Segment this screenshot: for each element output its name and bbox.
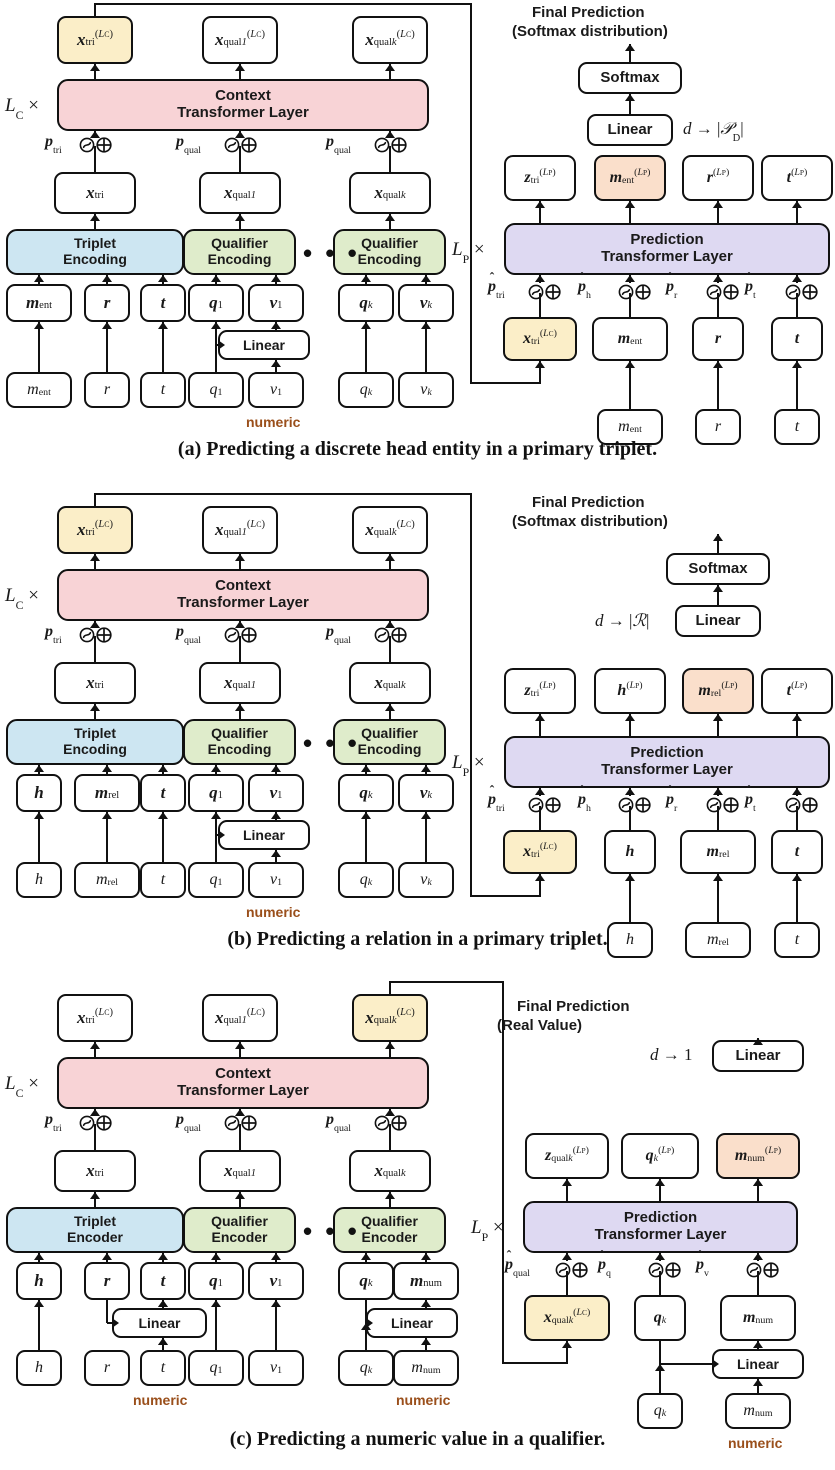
pred-out-arrow-0-head (562, 1179, 572, 1186)
context-token-1: xqual1 (199, 662, 281, 704)
context-token-2: xqualk (349, 172, 431, 214)
prediction-transformer-layer: PredictionTransformer Layer (504, 736, 830, 788)
ctx-lin-bot-0-head (158, 1338, 168, 1345)
prediction-output-0: zqualk(LP) (525, 1133, 609, 1179)
ctx-in-arrow-6-head (421, 812, 431, 819)
feedback-stem (539, 361, 541, 383)
feedback-top (389, 981, 504, 983)
ctx-in-arrow-3 (215, 1300, 217, 1350)
context-input-4: v1 (248, 372, 304, 408)
context-token-0: xtri (54, 172, 136, 214)
ctx-lin2-stem (365, 1300, 367, 1323)
pred-out-arrow-1-head (625, 201, 635, 208)
final-prediction-title-2: (Softmax distribution) (512, 23, 668, 40)
pred-tok-line-2 (717, 806, 719, 830)
ctx-out-arrow-1-head (235, 64, 245, 71)
context-input-1: r (84, 372, 130, 408)
context-output-0: xtri(LC) (57, 506, 133, 554)
context-add-symbol-2 (374, 626, 408, 644)
feedback-bottom (502, 1362, 568, 1364)
lin-sm-arrow-head (625, 94, 635, 101)
prediction-input-0: qk (637, 1393, 683, 1429)
prediction-add-symbol-1 (618, 283, 652, 301)
context-embedding-1: r (84, 1262, 130, 1300)
prediction-pos-label-0: p̂tri (488, 791, 505, 809)
prediction-transformer-layer: PredictionTransformer Layer (523, 1201, 798, 1253)
ctx-out-arrow-0-head (90, 1042, 100, 1049)
ctx-in-arrow-5 (365, 812, 367, 862)
ctx-in-arrow-6 (425, 812, 427, 862)
ctx-in-arrow-3-head (211, 1300, 221, 1307)
pred-lin-top-head (753, 1341, 763, 1348)
context-input-5: qk (338, 1350, 394, 1386)
ctx-enc-arrow-1-head (235, 704, 245, 711)
panel-b: xtri(LC)xqual1(LC)xqualk(LC)ContextTrans… (0, 490, 835, 960)
context-output-2: xqualk(LC) (352, 994, 428, 1042)
ctx-out-arrow-2-head (385, 1042, 395, 1049)
prediction-transformer-layer: PredictionTransformer Layer (504, 223, 830, 275)
prediction-token-0: xqualk(LC) (524, 1295, 610, 1341)
context-output-0: xtri(LC) (57, 994, 133, 1042)
pred-sym-arrow-2-head (713, 275, 723, 282)
pred-out-arrow-3-head (792, 714, 802, 721)
context-embedding-6: mnum (393, 1262, 459, 1300)
ctx-lin-side-0-head (112, 1318, 119, 1328)
ctx-in-arrow-1 (106, 322, 108, 372)
pred-sym-arrow-0-head (562, 1253, 572, 1260)
ctx-out-arrow-2-head (385, 64, 395, 71)
context-token-1: xqual1 (199, 172, 281, 214)
ctx-emb-arrow-0-head (34, 765, 44, 772)
context-linear-1: Linear (366, 1308, 458, 1338)
pred-out-arrow-0-head (535, 714, 545, 721)
ctx-emb-arrow-0-head (34, 275, 44, 282)
prediction-pos-label-1: p̂h (578, 791, 591, 809)
prediction-linear-bottom: Linear (712, 1349, 804, 1379)
ctx-enc-arrow-0-head (90, 214, 100, 221)
pred-sym-arrow-1-head (625, 788, 635, 795)
context-numeric-1: numeric (396, 1392, 450, 1408)
panel-caption-a: (a) Predicting a discrete head entity in… (0, 438, 835, 461)
context-token-2: xqualk (349, 1150, 431, 1192)
pred-lin-side (660, 1363, 712, 1365)
context-embedding-0: ment (6, 284, 72, 322)
ctx-sym-arrow-0-head (90, 1109, 100, 1116)
feedback-bottom (470, 382, 541, 384)
pred-in-arrow-1-head (713, 361, 723, 368)
ctx-emb-arrow-4-head (271, 275, 281, 282)
ctx-tok-line-0 (94, 146, 96, 172)
ctx-emb-arrow-3-head (211, 275, 221, 282)
pred-out-arrow-1-head (625, 714, 635, 721)
ctx-lin2-top-head (421, 1300, 431, 1307)
context-pos-label-0: ptri (45, 133, 62, 151)
context-input-6: vk (398, 372, 454, 408)
pred-in-arrow-2 (796, 874, 798, 922)
dim-label: d → 1 (650, 1045, 693, 1065)
context-pos-label-1: pqual (176, 623, 201, 641)
context-embedding-6: vk (398, 774, 454, 812)
ctx-lin-side-head (218, 340, 225, 350)
ctx-enc-arrow-2-head (385, 704, 395, 711)
ctx-sym-arrow-2-head (385, 1109, 395, 1116)
prediction-token-3: t (771, 317, 823, 361)
context-ellipsis: • • • (303, 1218, 360, 1244)
pred-in-arrow-1-head (713, 874, 723, 881)
pred-tok-line-2 (717, 293, 719, 317)
context-numeric-0: numeric (246, 414, 300, 430)
context-input-0: h (16, 862, 62, 898)
context-add-symbol-2 (374, 136, 408, 154)
ctx-enc-arrow-0-head (90, 704, 100, 711)
pred-in-arrow-2-head (792, 874, 802, 881)
ctx-enc-arrow-2-head (385, 214, 395, 221)
context-input-3: q1 (188, 862, 244, 898)
panel-a: xtri(LC)xqual1(LC)xqualk(LC)ContextTrans… (0, 0, 835, 470)
context-input-2: t (140, 1350, 186, 1386)
context-loop-label: LC × (5, 95, 39, 117)
prediction-add-symbol-2 (746, 1261, 780, 1279)
context-encoder-0: TripletEncoding (6, 719, 184, 765)
prediction-linear-box: Linear (675, 605, 761, 637)
context-numeric-0: numeric (133, 1392, 187, 1408)
context-pos-label-2: pqual (326, 133, 351, 151)
context-pos-label-0: ptri (45, 1111, 62, 1129)
feedback-top (94, 3, 472, 5)
context-token-0: xtri (54, 662, 136, 704)
ctx-emb-arrow-5-head (361, 275, 371, 282)
context-add-symbol-1 (224, 1114, 258, 1132)
ctx-in-arrow-0 (38, 812, 40, 862)
ctx-in-arrow-4-head (271, 1300, 281, 1307)
ctx-lin-bot-head (271, 360, 281, 367)
pred-in-arrow-1 (717, 361, 719, 409)
context-input-2: t (140, 862, 186, 898)
pred-sym-arrow-0-head (535, 788, 545, 795)
ctx-out-arrow-0-head (90, 554, 100, 561)
pred-out-arrow-0-head (535, 201, 545, 208)
prediction-loop-label: LP × (452, 239, 485, 261)
context-add-symbol-1 (224, 626, 258, 644)
prediction-output-3: t(LP) (761, 155, 833, 201)
ctx-in-arrow-0-head (34, 322, 44, 329)
ctx-enc-arrow-1-head (235, 214, 245, 221)
pred-tok-line-0 (566, 1271, 568, 1295)
final-prediction-title-1: Final Prediction (532, 494, 645, 511)
context-embedding-5: qk (338, 1262, 394, 1300)
ctx-emb-arrow-6-head (421, 275, 431, 282)
context-embedding-5: qk (338, 774, 394, 812)
prediction-add-symbol-3 (785, 796, 819, 814)
pred-sym-arrow-1-head (655, 1253, 665, 1260)
ctx-sym-arrow-1-head (235, 1109, 245, 1116)
context-linear-0: Linear (112, 1308, 207, 1338)
ctx-out-arrow-2-head (385, 554, 395, 561)
ctx-enc-arrow-2-head (385, 1192, 395, 1199)
context-input-2: t (140, 372, 186, 408)
context-transformer-layer: ContextTransformer Layer (57, 1057, 429, 1109)
feedback-down (470, 494, 472, 896)
panel-c: xtri(LC)xqual1(LC)xqualk(LC)ContextTrans… (0, 978, 835, 1448)
ctx-lin-stem-0 (106, 1300, 108, 1323)
ctx-in-arrow-6 (425, 322, 427, 372)
context-input-3: q1 (188, 372, 244, 408)
pred-in-arrow-2 (796, 361, 798, 409)
ctx-emb-arrow-3-head (211, 765, 221, 772)
ctx-in-arrow-2-head (158, 322, 168, 329)
prediction-add-symbol-1 (648, 1261, 682, 1279)
context-encoder-0: TripletEncoding (6, 229, 184, 275)
pred-in-arrow-0 (629, 361, 631, 409)
prediction-add-symbol-3 (785, 283, 819, 301)
feedback-up (389, 982, 391, 994)
context-embedding-1: r (84, 284, 130, 322)
ctx-in-arrow-0-head (34, 812, 44, 819)
prediction-pos-label-0: p̂qual (505, 1256, 530, 1274)
context-output-1: xqual1(LC) (202, 994, 278, 1042)
context-output-2: xqualk(LC) (352, 16, 428, 64)
ctx-tok-line-2 (389, 146, 391, 172)
sm-final-arrow-head (625, 44, 635, 51)
pred-in-arrow-0-head (625, 361, 635, 368)
context-output-0: xtri(LC) (57, 16, 133, 64)
pred-in-arrow-0 (629, 874, 631, 922)
ctx-out-arrow-0-head (90, 64, 100, 71)
ctx-emb-arrow-4-head (271, 765, 281, 772)
ctx-emb-arrow-4-head (271, 1253, 281, 1260)
context-loop-label: LC × (5, 585, 39, 607)
context-input-6: vk (398, 862, 454, 898)
ctx-in-arrow-4 (275, 1300, 277, 1350)
feedback-down (470, 4, 472, 383)
ctx-tok-line-2 (389, 636, 391, 662)
prediction-token-1: h (604, 830, 656, 874)
context-input-5: qk (338, 372, 394, 408)
context-add-symbol-1 (224, 136, 258, 154)
ctx-emb-arrow-6-head (421, 1253, 431, 1260)
ctx-lin-side-head (218, 830, 225, 840)
ctx-emb-arrow-2-head (158, 765, 168, 772)
context-embedding-1: mrel (74, 774, 140, 812)
context-linear-0: Linear (218, 330, 310, 360)
pred-sym-arrow-2-head (753, 1253, 763, 1260)
ctx-sym-arrow-0-head (90, 621, 100, 628)
prediction-pos-label-3: p̂t (745, 278, 756, 296)
pred-tok-line-2 (757, 1271, 759, 1295)
context-embedding-5: qk (338, 284, 394, 322)
ctx-emb-arrow-1-head (102, 765, 112, 772)
ctx-lin-stem (215, 322, 217, 345)
ctx-emb-arrow-6-head (421, 765, 431, 772)
ctx-lin-bot-head (271, 850, 281, 857)
prediction-token-0: xtri(LC) (503, 830, 577, 874)
prediction-output-1: h(LP) (594, 668, 666, 714)
context-embedding-3: q1 (188, 1262, 244, 1300)
ctx-lin-top-head (271, 322, 281, 329)
pred-in-arrow-0-head (655, 1364, 665, 1371)
context-pos-label-1: pqual (176, 1111, 201, 1129)
prediction-output-0: ztri(LP) (504, 668, 576, 714)
ctx-lin-top-0-head (158, 1300, 168, 1307)
pred-out-arrow-2-head (713, 714, 723, 721)
prediction-token-1: ment (592, 317, 668, 361)
softmax-box: Softmax (578, 62, 682, 94)
pred-tok-line-3 (796, 293, 798, 317)
ctx-in-arrow-5-head (361, 322, 371, 329)
context-encoder-1: QualifierEncoder (183, 1207, 296, 1253)
context-token-2: xqualk (349, 662, 431, 704)
context-embedding-0: h (16, 774, 62, 812)
context-add-symbol-0 (79, 1114, 113, 1132)
panel-caption-c: (c) Predicting a numeric value in a qual… (0, 1428, 835, 1451)
ctx-out-arrow-1-head (235, 554, 245, 561)
context-input-4: v1 (248, 862, 304, 898)
prediction-pos-label-2: p̂v (696, 1256, 709, 1274)
context-input-0: ment (6, 372, 72, 408)
context-embedding-0: h (16, 1262, 62, 1300)
context-pos-label-2: pqual (326, 623, 351, 641)
pred-tok-line-1 (629, 293, 631, 317)
context-encoder-1: QualifierEncoding (183, 719, 296, 765)
prediction-add-symbol-0 (528, 283, 562, 301)
prediction-add-symbol-0 (528, 796, 562, 814)
context-embedding-6: vk (398, 284, 454, 322)
ctx-enc-arrow-0-head (90, 1192, 100, 1199)
pred-lin-bot-head (753, 1379, 763, 1386)
pred-tok-line-1 (659, 1271, 661, 1295)
ctx-in-arrow-1 (106, 812, 108, 862)
ctx-lin2-bot-head (421, 1338, 431, 1345)
pred-tok-line-3 (796, 806, 798, 830)
feedback-bottom (470, 895, 541, 897)
ctx-in-arrow-2-head (158, 812, 168, 819)
ctx-enc-arrow-1-head (235, 1192, 245, 1199)
sm-final-arrow-head (713, 534, 723, 541)
final-prediction-title-2: (Softmax distribution) (512, 513, 668, 530)
prediction-token-1: qk (634, 1295, 686, 1341)
prediction-pos-label-2: p̂r (666, 791, 677, 809)
ctx-tok-line-2 (389, 1124, 391, 1150)
context-input-6: mnum (393, 1350, 459, 1386)
pred-sym-arrow-1-head (625, 275, 635, 282)
pred-in-arrow-2-head (792, 361, 802, 368)
prediction-linear-box: Linear (587, 114, 673, 146)
context-add-symbol-2 (374, 1114, 408, 1132)
context-output-1: xqual1(LC) (202, 16, 278, 64)
prediction-pos-label-3: p̂t (745, 791, 756, 809)
pred-sym-arrow-0-head (535, 275, 545, 282)
ctx-emb-arrow-0-head (34, 1253, 44, 1260)
pred-out-arrow-1-head (655, 1179, 665, 1186)
pred-in-arrow-0-head (625, 874, 635, 881)
ctx-in-arrow-1-head (102, 812, 112, 819)
prediction-pos-label-1: p̂q (598, 1256, 611, 1274)
ctx-sym-arrow-0-head (90, 131, 100, 138)
ctx-emb-arrow-2-head (158, 1253, 168, 1260)
context-add-symbol-0 (79, 136, 113, 154)
pred-lin-stem (659, 1341, 661, 1364)
context-linear-0: Linear (218, 820, 310, 850)
prediction-output-2: mrel(LP) (682, 668, 754, 714)
ctx-out-arrow-1-head (235, 1042, 245, 1049)
context-input-3: q1 (188, 1350, 244, 1386)
softmax-box: Softmax (666, 553, 770, 585)
ctx-emb-arrow-5-head (361, 1253, 371, 1260)
context-loop-label: LC × (5, 1073, 39, 1095)
ctx-in-arrow-5-head (361, 1323, 371, 1330)
ctx-in-arrow-5 (365, 322, 367, 372)
pred-in-arrow-1 (717, 874, 719, 922)
context-input-5: qk (338, 862, 394, 898)
prediction-output-0: ztri(LP) (504, 155, 576, 201)
context-embedding-4: v1 (248, 774, 304, 812)
context-input-1: r (84, 1350, 130, 1386)
final-prediction-title-1: Final Prediction (532, 4, 645, 21)
context-pos-label-1: pqual (176, 133, 201, 151)
ctx-lin-stem (215, 812, 217, 835)
context-embedding-3: q1 (188, 774, 244, 812)
ctx-emb-arrow-1-head (102, 1253, 112, 1260)
ctx-tok-line-1 (239, 146, 241, 172)
prediction-token-2: r (692, 317, 744, 361)
ctx-emb-arrow-2-head (158, 275, 168, 282)
prediction-pos-label-0: p̂tri (488, 278, 505, 296)
context-encoder-1: QualifierEncoding (183, 229, 296, 275)
context-embedding-4: v1 (248, 1262, 304, 1300)
lin-sm-arrow-head (713, 585, 723, 592)
ctx-tok-line-1 (239, 1124, 241, 1150)
context-token-0: xtri (54, 1150, 136, 1192)
ctx-emb-arrow-1-head (102, 275, 112, 282)
ctx-in-arrow-2 (162, 322, 164, 372)
prediction-add-symbol-0 (555, 1261, 589, 1279)
feedback-down (502, 982, 504, 1363)
ctx-in-arrow-2 (162, 812, 164, 862)
ctx-in-arrow-5-head (361, 812, 371, 819)
prediction-token-2: mnum (720, 1295, 796, 1341)
context-embedding-4: v1 (248, 284, 304, 322)
prediction-output-2: r(LP) (682, 155, 754, 201)
prediction-input-1: mnum (725, 1393, 791, 1429)
ctx-lin-top-head (271, 812, 281, 819)
pred-tok-line-1 (629, 806, 631, 830)
final-prediction-title-1: Final Prediction (517, 998, 630, 1015)
pred-lin-side-head (712, 1359, 719, 1369)
ctx-sym-arrow-2-head (385, 131, 395, 138)
prediction-token-3: t (771, 830, 823, 874)
ctx-tok-line-0 (94, 1124, 96, 1150)
figure-root: xtri(LC)xqual1(LC)xqualk(LC)ContextTrans… (0, 0, 835, 1470)
ctx-in-arrow-6-head (421, 322, 431, 329)
pred-tok-line-0 (539, 293, 541, 317)
pred-out-arrow-2-head (713, 201, 723, 208)
ctx-in-arrow-0 (38, 1300, 40, 1350)
lin-final-arrow-head (753, 1038, 763, 1045)
context-embedding-3: q1 (188, 284, 244, 322)
context-output-1: xqual1(LC) (202, 506, 278, 554)
ctx-sym-arrow-1-head (235, 131, 245, 138)
dim-label: d → |𝒫D| (683, 119, 744, 139)
ctx-sym-arrow-2-head (385, 621, 395, 628)
context-numeric-0: numeric (246, 904, 300, 920)
prediction-loop-label: LP × (452, 752, 485, 774)
context-transformer-layer: ContextTransformer Layer (57, 569, 429, 621)
pred-tok-line-0 (539, 806, 541, 830)
ctx-emb-arrow-5-head (361, 765, 371, 772)
ctx-in-arrow-0-head (34, 1300, 44, 1307)
prediction-output-1: ment(LP) (594, 155, 666, 201)
feedback-up (94, 494, 96, 506)
